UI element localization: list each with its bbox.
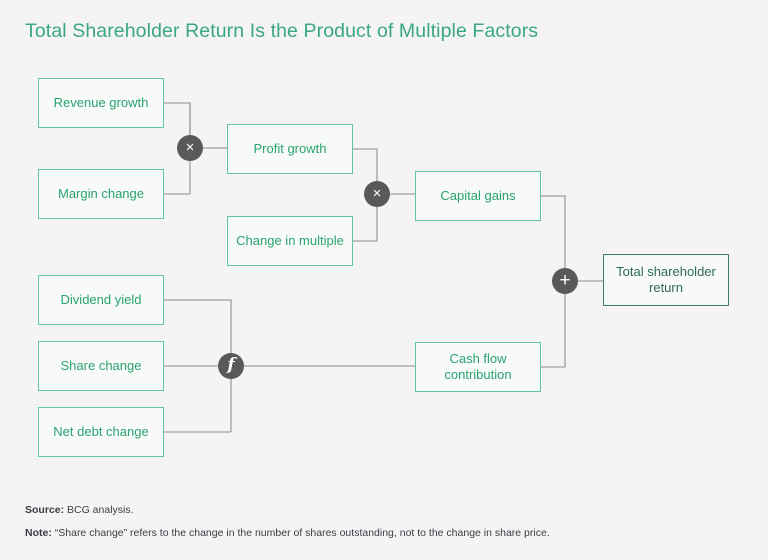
operator-multiply-profit: ×: [177, 135, 203, 161]
footnote-note: Note: “Share change” refers to the chang…: [25, 526, 745, 540]
footnote-text: BCG analysis.: [64, 504, 133, 516]
node-net-debt-change[interactable]: Net debt change: [38, 407, 164, 457]
footnotes: Source: BCG analysis. Note: “Share chang…: [25, 503, 745, 549]
node-label: Net debt change: [53, 424, 148, 440]
node-label: Total shareholder return: [610, 264, 722, 297]
multiply-icon: ×: [373, 186, 382, 201]
footnote-text: “Share change” refers to the change in t…: [52, 527, 550, 539]
plus-icon: +: [559, 271, 570, 290]
footnote-label: Note:: [25, 527, 52, 539]
node-label: Margin change: [58, 186, 144, 202]
multiply-icon: ×: [186, 140, 195, 155]
node-profit-growth[interactable]: Profit growth: [227, 124, 353, 174]
footnote-label: Source:: [25, 504, 64, 516]
node-change-in-multiple[interactable]: Change in multiple: [227, 216, 353, 266]
node-cash-flow-contribution[interactable]: Cash flow contribution: [415, 342, 541, 392]
footnote-source: Source: BCG analysis.: [25, 503, 745, 517]
node-margin-change[interactable]: Margin change: [38, 169, 164, 219]
node-revenue-growth[interactable]: Revenue growth: [38, 78, 164, 128]
node-total-shareholder-return[interactable]: Total shareholder return: [603, 254, 729, 306]
node-label: Capital gains: [440, 188, 515, 204]
node-label: Profit growth: [254, 141, 327, 157]
node-label: Revenue growth: [54, 95, 149, 111]
node-label: Change in multiple: [236, 233, 344, 249]
node-label: Cash flow contribution: [422, 351, 534, 384]
node-dividend-yield[interactable]: Dividend yield: [38, 275, 164, 325]
node-label: Share change: [61, 358, 142, 374]
operator-multiply-capital: ×: [364, 181, 390, 207]
node-capital-gains[interactable]: Capital gains: [415, 171, 541, 221]
operator-plus-total: +: [552, 268, 578, 294]
diagram-page: Total Shareholder Return Is the Product …: [0, 0, 768, 560]
node-share-change[interactable]: Share change: [38, 341, 164, 391]
node-label: Dividend yield: [61, 292, 142, 308]
diagram-canvas: Revenue growth Margin change Profit grow…: [0, 0, 768, 500]
function-icon: f: [227, 357, 234, 374]
operator-function-cashflow: f: [218, 353, 244, 379]
